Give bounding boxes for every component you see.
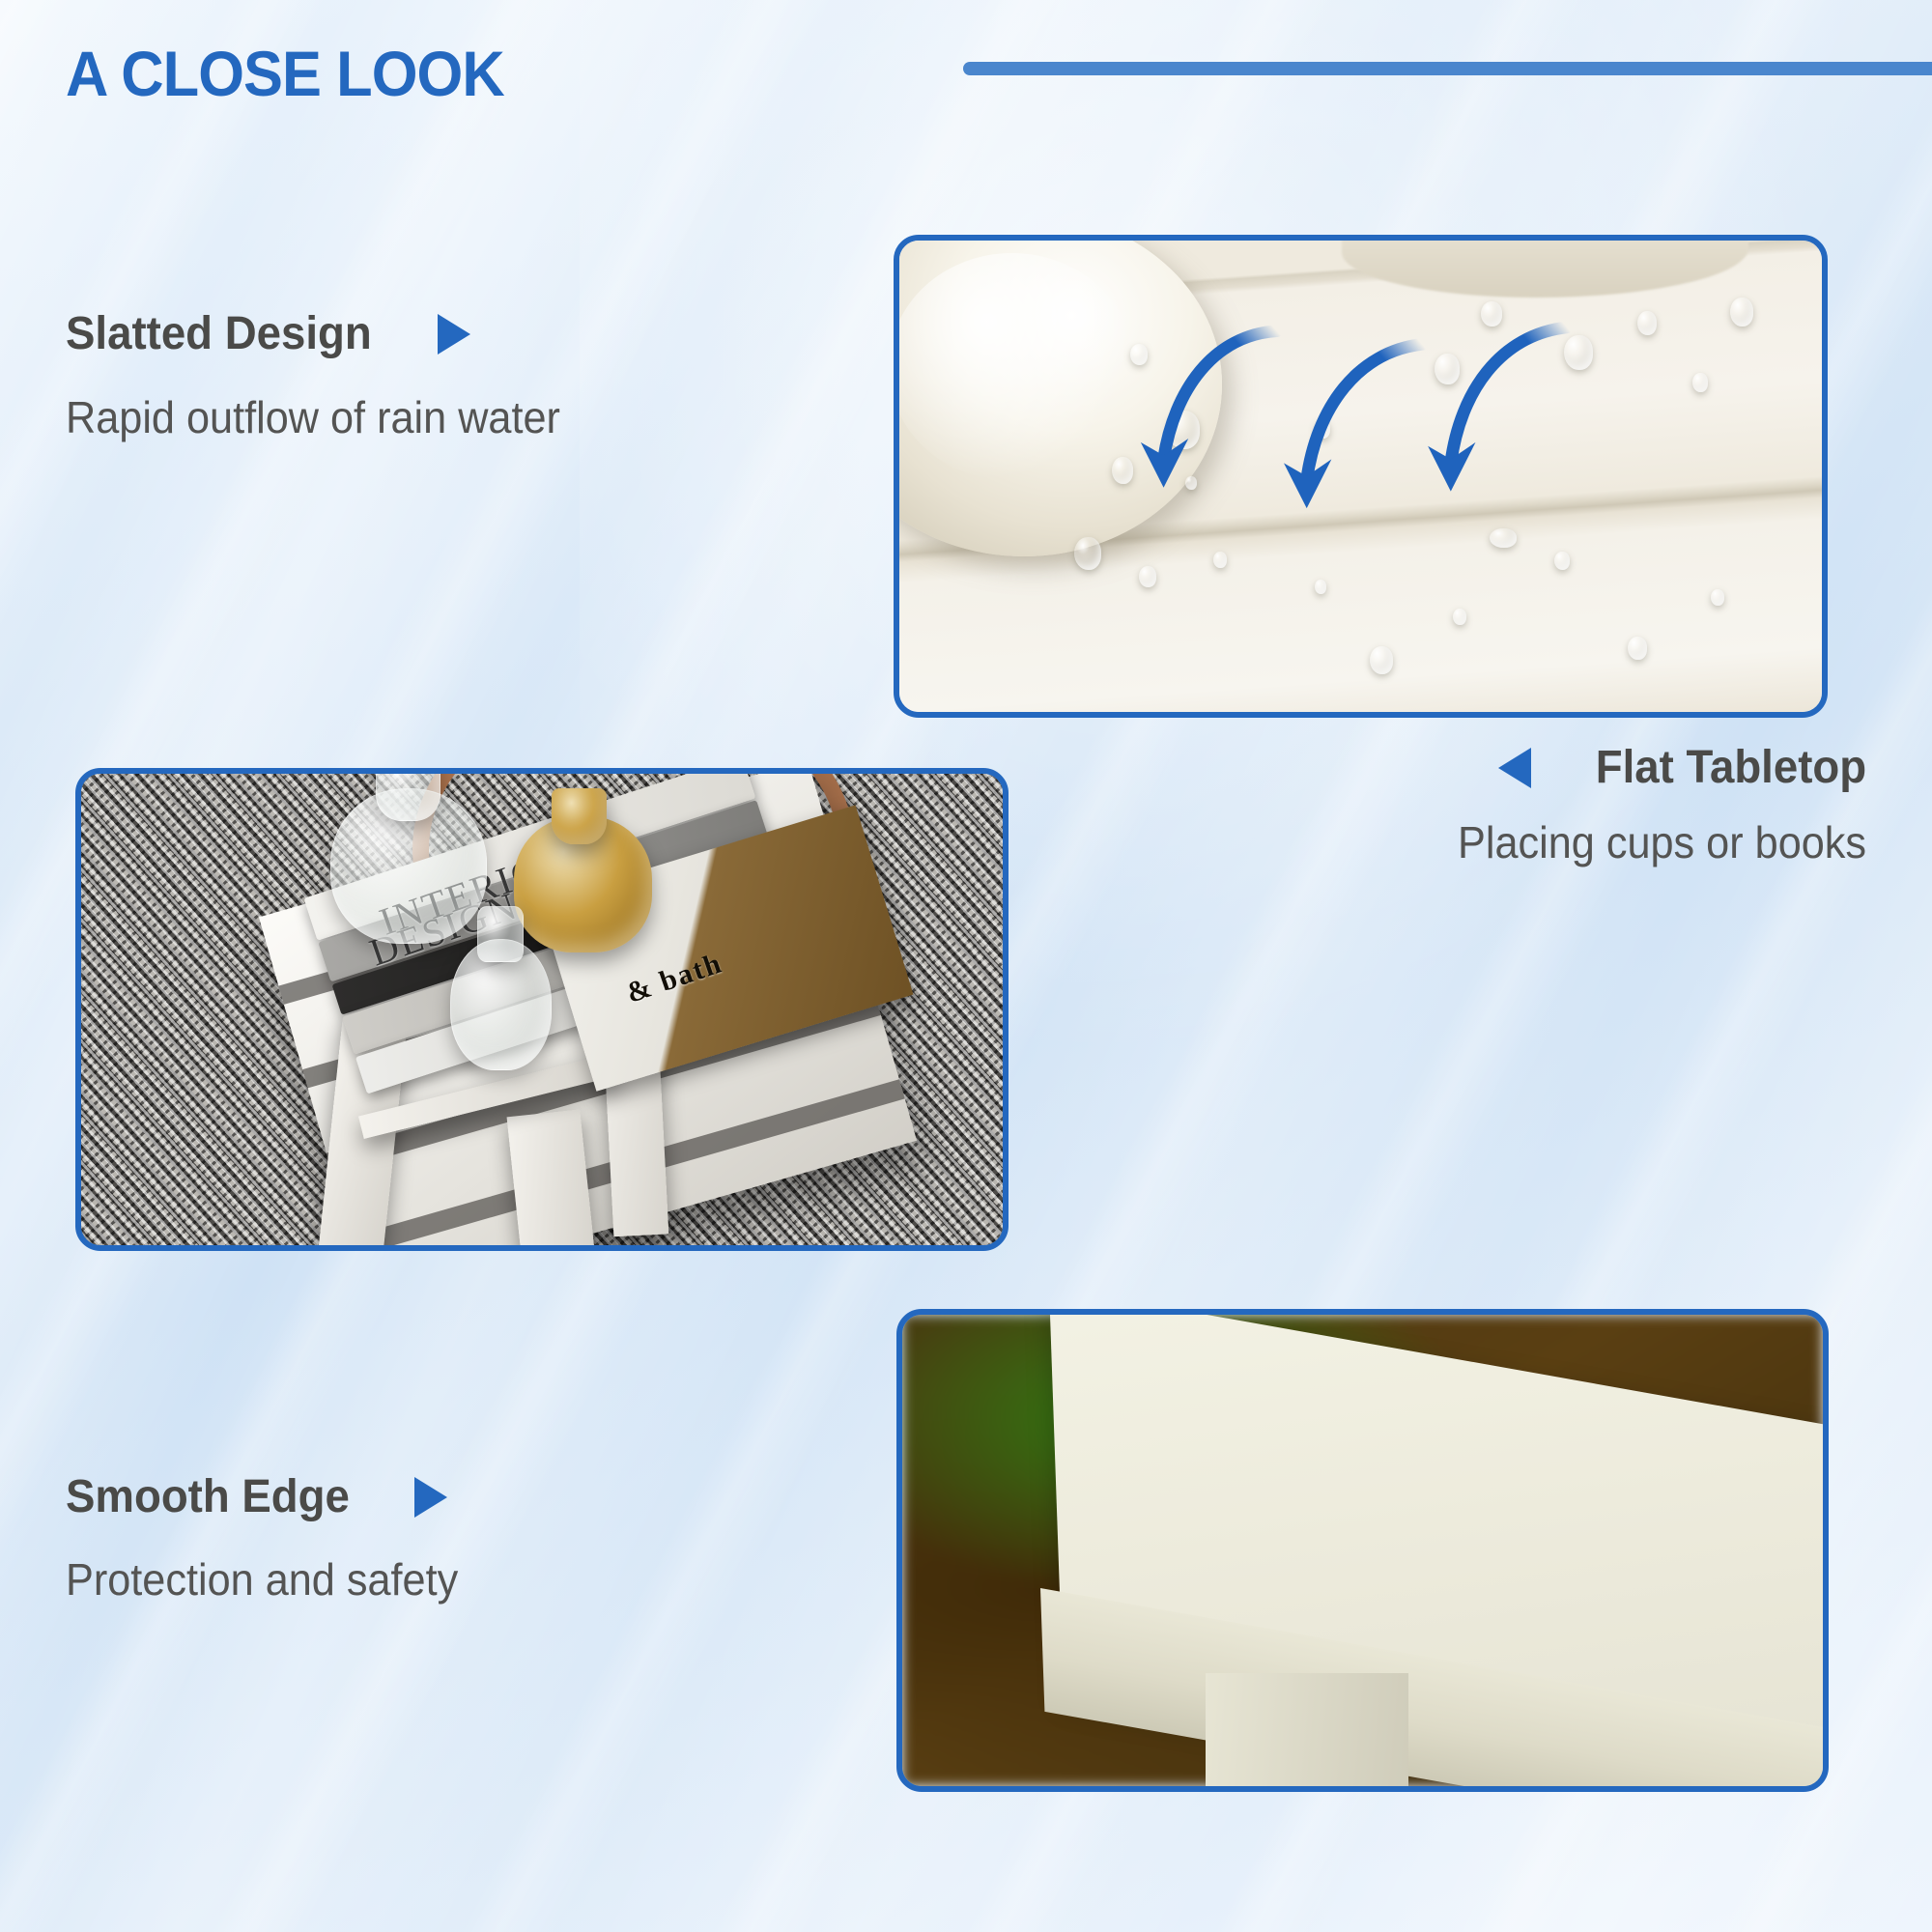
crystal-decanter-stopper: [477, 906, 524, 963]
photo-slatted-surface: [899, 241, 1822, 712]
photo-panel-smooth-edge: [896, 1309, 1829, 1792]
feature-title: Flat Tabletop: [1596, 741, 1866, 794]
feature-subtitle-flat-tabletop: Placing cups or books: [1458, 816, 1866, 868]
feature-subtitle-smooth-edge: Protection and safety: [66, 1553, 458, 1605]
page-title: A CLOSE LOOK: [66, 37, 504, 110]
feature-heading-slatted-design: Slatted Design: [66, 307, 470, 360]
table-leg: [1206, 1673, 1408, 1792]
triangle-left-icon: [1498, 748, 1531, 788]
photo-table-on-rug: INTERIOR DESIGN & bath: [81, 774, 1003, 1245]
triangle-right-icon: [438, 314, 470, 355]
feature-title: Smooth Edge: [66, 1470, 350, 1523]
glass-vase-neck: [376, 768, 440, 821]
water-flow-arrows: [899, 241, 1822, 712]
header-rule: [963, 62, 1932, 75]
triangle-right-icon: [414, 1477, 447, 1518]
feature-heading-flat-tabletop: Flat Tabletop: [1498, 741, 1866, 794]
table-leg: [507, 1110, 595, 1251]
feature-subtitle-slatted-design: Rapid outflow of rain water: [66, 391, 560, 443]
feature-title: Slatted Design: [66, 307, 372, 360]
photo-panel-flat-tabletop: INTERIOR DESIGN & bath: [75, 768, 1009, 1251]
amber-bottle-neck: [552, 788, 607, 845]
photo-smooth-edge: [902, 1315, 1823, 1786]
infographic-page: A CLOSE LOOK Slatted Design Rapid outflo…: [0, 0, 1932, 1932]
photo-panel-slatted-design: [894, 235, 1828, 718]
feature-heading-smooth-edge: Smooth Edge: [66, 1470, 447, 1523]
